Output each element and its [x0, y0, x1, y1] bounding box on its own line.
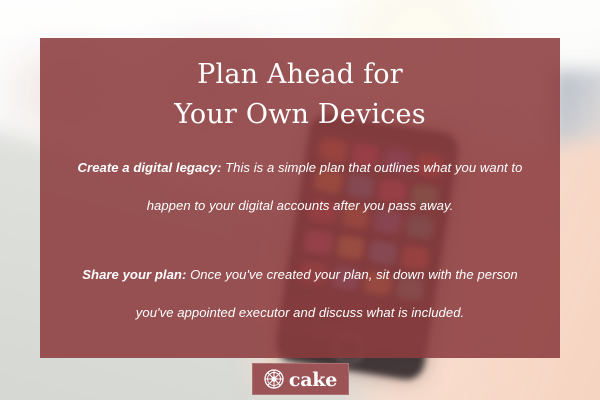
page-title: Plan Ahead for Your Own Devices — [68, 38, 532, 135]
cake-wordmark: cake — [289, 371, 337, 390]
paragraph-2-lead: Share your plan: — [82, 267, 186, 282]
slide-canvas: Plan Ahead for Your Own Devices Create a… — [0, 0, 600, 400]
paragraph-2-text: Once you've created your plan, sit down … — [136, 267, 518, 320]
paragraph-1-lead: Create a digital legacy: — [78, 160, 222, 175]
title-line-1: Plan Ahead for — [68, 55, 532, 95]
paragraph-share-your-plan: Share your plan: Once you've created you… — [68, 256, 532, 332]
cake-emblem-icon — [264, 369, 284, 389]
cake-logo-badge[interactable]: cake — [252, 363, 349, 395]
paragraph-create-digital-legacy: Create a digital legacy: This is a simpl… — [68, 149, 532, 225]
card-body: Create a digital legacy: This is a simpl… — [68, 149, 532, 332]
title-line-2: Your Own Devices — [68, 95, 532, 135]
quote-card: Plan Ahead for Your Own Devices Create a… — [40, 38, 560, 358]
